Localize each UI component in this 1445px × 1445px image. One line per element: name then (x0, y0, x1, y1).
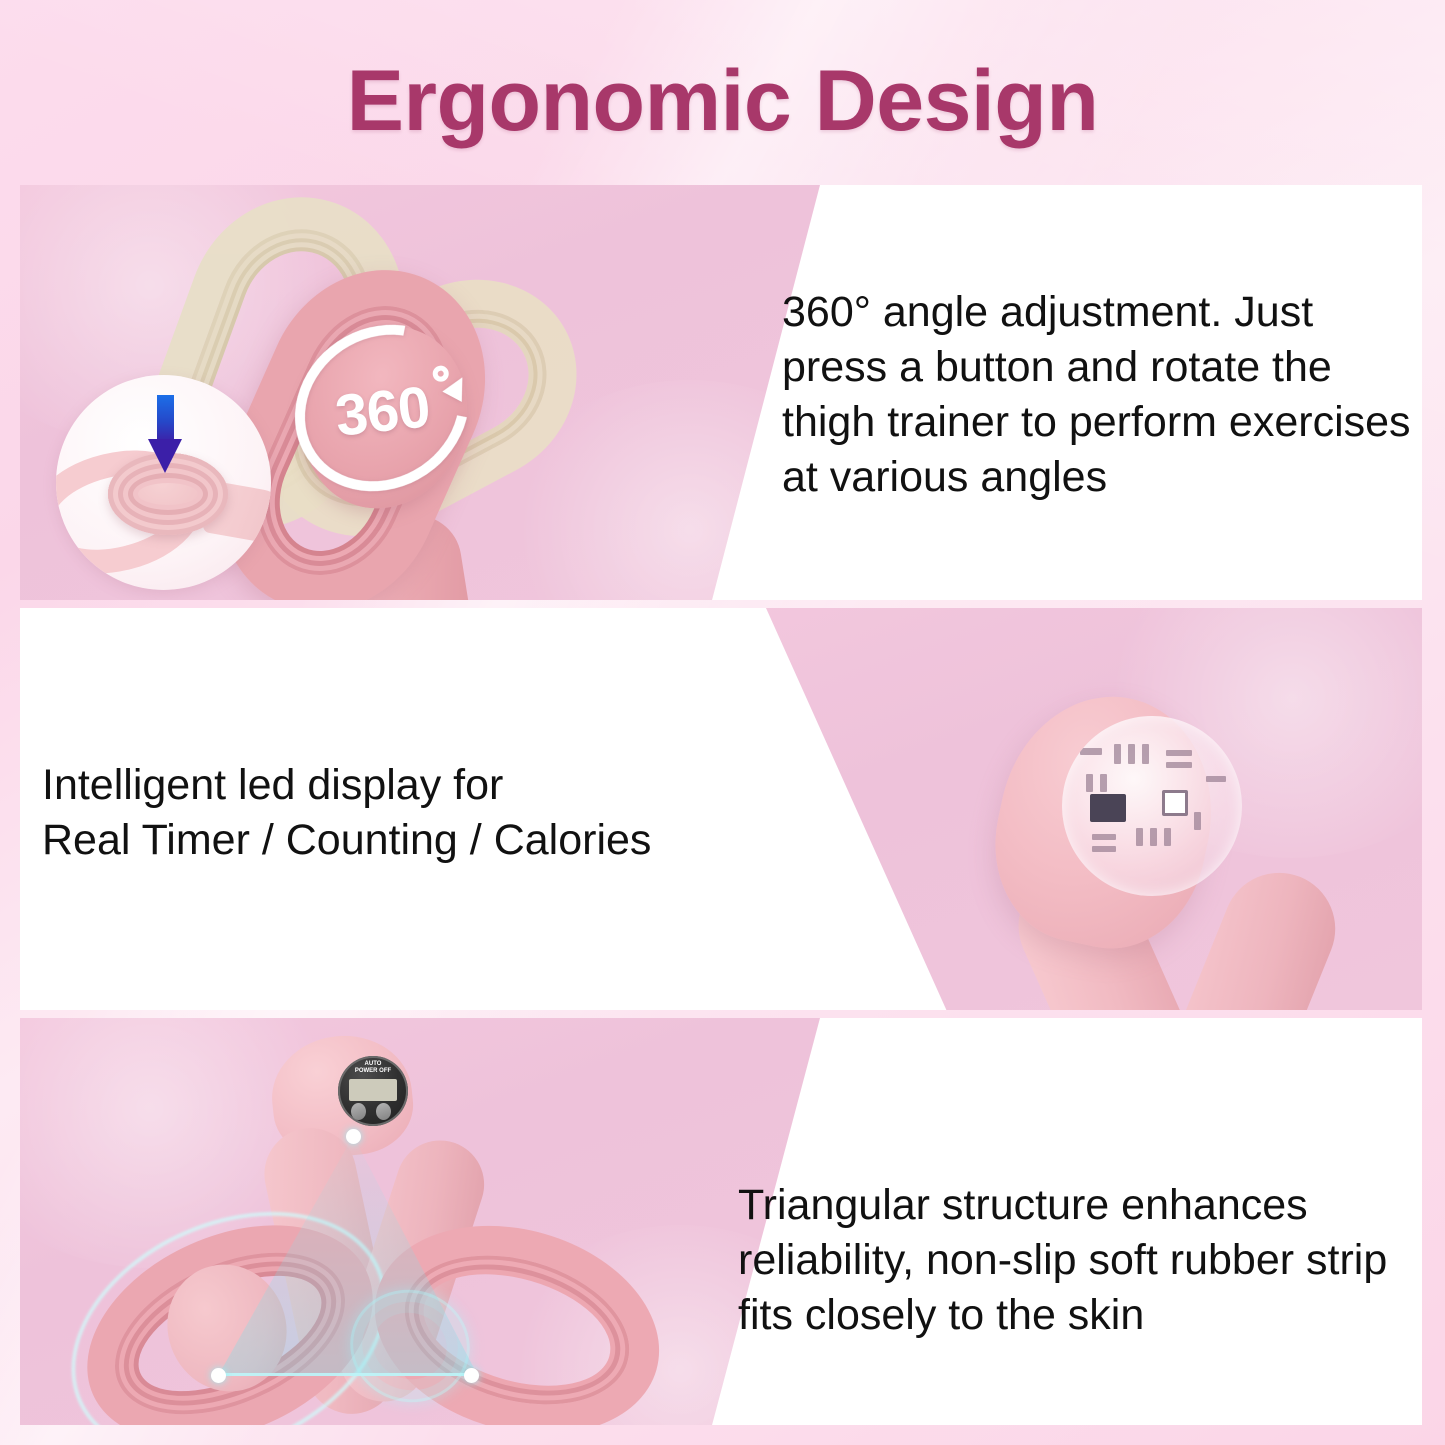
auto-power-off-label-small: AUTO POWER OFF (338, 1061, 408, 1075)
led-button-small-left[interactable] (351, 1103, 366, 1120)
microchip-icon (1090, 794, 1126, 822)
feature-text-triangular-structure: Triangular structure enhances reliabilit… (738, 1178, 1418, 1343)
lcd-screen-small (349, 1079, 397, 1101)
circuit-board-cutaway (1062, 716, 1242, 896)
product-photo-360-rotation: 360 (20, 185, 820, 600)
feature-text-360-rotation: 360° angle adjustment. Just press a butt… (782, 285, 1412, 505)
triangle-node-bottom-right (464, 1368, 479, 1383)
rotation-badge-icon: 360 (284, 319, 480, 497)
product-illustration: 360 (20, 185, 820, 600)
triangle-node-bottom-left (211, 1368, 226, 1383)
button-press-inset (56, 375, 271, 590)
feature-text-line-1: Intelligent led display for (42, 758, 762, 813)
feature-text-line-2: Real Timer / Counting / Calories (42, 813, 762, 868)
led-button-small-right[interactable] (376, 1103, 391, 1120)
page-title: Ergonomic Design (0, 52, 1445, 151)
feature-text-led-display: Intelligent led display for Real Timer /… (42, 758, 762, 868)
press-arrow-icon (148, 395, 182, 473)
product-illustration: AUTO POWER OFF (20, 1018, 820, 1425)
triangle-overlay-icon (218, 1136, 478, 1376)
arrow-shaft (157, 395, 174, 443)
led-display-small: AUTO POWER OFF (338, 1056, 408, 1126)
triangle-node-top (346, 1129, 361, 1144)
product-photo-triangular-structure: AUTO POWER OFF (20, 1018, 820, 1425)
triangle-edge (218, 1136, 478, 1376)
arrow-head (148, 439, 182, 473)
capacitor-icon (1162, 790, 1188, 816)
